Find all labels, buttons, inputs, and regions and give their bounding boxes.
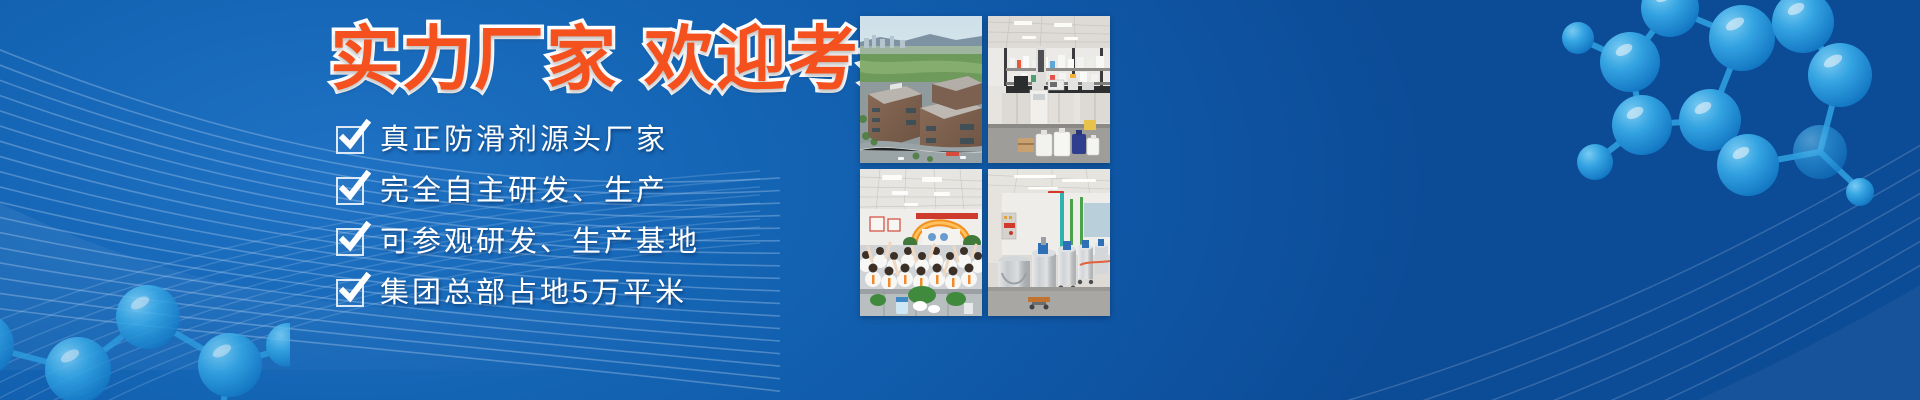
list-item-label: 集团总部占地5万平米	[380, 279, 687, 308]
list-item: 真正防滑剂源头厂家	[336, 120, 700, 160]
list-item: 集团总部占地5万平米	[336, 273, 700, 313]
checkbox-checked-icon	[336, 279, 364, 307]
list-item-label: 完全自主研发、生产	[380, 177, 668, 206]
headline-part-1: 实力厂家	[330, 20, 618, 98]
production-equipment-photo	[988, 169, 1110, 316]
molecule-right-decoration	[1520, 0, 1920, 270]
banner-content: 实力厂家欢迎考察 真正防滑剂源头厂家 完全自主研发、生产 可参观研发、生产基地	[0, 0, 860, 400]
laboratory-photo	[988, 16, 1110, 163]
page-title: 实力厂家欢迎考察	[330, 24, 932, 94]
feature-list: 真正防滑剂源头厂家 完全自主研发、生产 可参观研发、生产基地 集团总部占地5万平…	[336, 120, 700, 313]
list-item: 可参观研发、生产基地	[336, 222, 700, 262]
office-staff-photo	[860, 169, 982, 316]
checkbox-checked-icon	[336, 228, 364, 256]
promo-banner: 实力厂家欢迎考察 真正防滑剂源头厂家 完全自主研发、生产 可参观研发、生产基地	[0, 0, 1920, 400]
checkbox-checked-icon	[336, 177, 364, 205]
ribbon-sweep-right-decoration	[1260, 100, 1920, 400]
aerial-campus-photo	[860, 16, 982, 163]
photo-grid	[860, 16, 1230, 384]
list-item-label: 真正防滑剂源头厂家	[380, 126, 668, 155]
list-item-label: 可参观研发、生产基地	[380, 228, 700, 257]
checkbox-checked-icon	[336, 126, 364, 154]
list-item: 完全自主研发、生产	[336, 171, 700, 211]
